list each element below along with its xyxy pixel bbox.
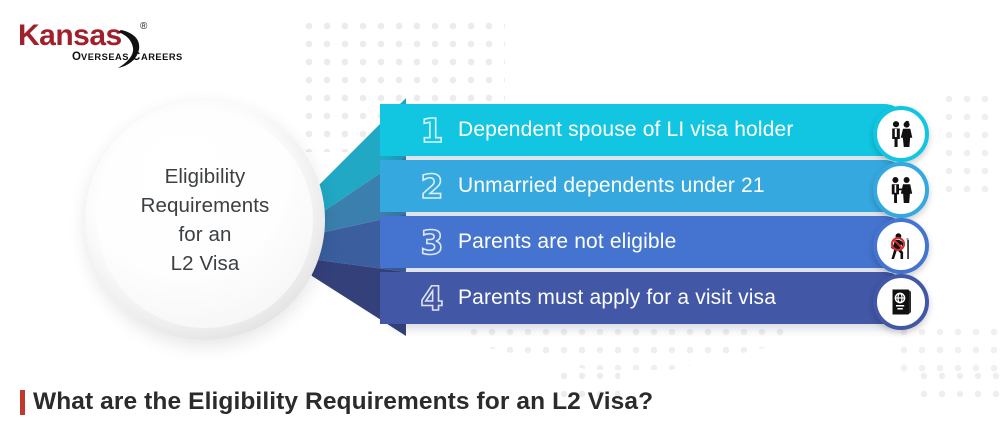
requirement-label-4: Parents must apply for a visit visa: [458, 286, 776, 310]
requirement-number-2: 2: [408, 170, 456, 203]
requirement-row-1[interactable]: 1 Dependent spouse of LI visa holder: [380, 104, 910, 156]
svg-text:C: C: [132, 51, 141, 63]
requirement-label-1: Dependent spouse of LI visa holder: [458, 118, 794, 142]
dot-grid-heading-far-right: [920, 372, 1000, 406]
passport-icon: [886, 287, 916, 317]
requirement-number-3: 3: [408, 226, 456, 259]
hub-title: Eligibility Requirements for an L2 Visa: [85, 100, 325, 340]
couple-formal-icon: [886, 119, 916, 149]
requirement-row-2[interactable]: 2 Unmarried dependents under 21: [380, 160, 910, 212]
requirement-label-2: Unmarried dependents under 21: [458, 174, 765, 198]
dot-grid-right: [945, 95, 1000, 200]
elderly-person-prohibited-icon: [886, 231, 916, 261]
requirement-icon-badge-1[interactable]: [873, 106, 929, 162]
central-hub: Eligibility Requirements for an L2 Visa: [85, 100, 325, 340]
hub-line-1: Eligibility: [165, 162, 246, 191]
logo-wordmark: Kansas: [18, 19, 122, 52]
logo-registered-mark: ®: [140, 21, 148, 32]
heading-accent-bar: [20, 390, 25, 415]
requirement-label-3: Parents are not eligible: [458, 230, 676, 254]
logo-tagline: O: [72, 51, 81, 63]
infographic-canvas: Kansas ® O VERSEAS C AREERS Eligibility …: [0, 0, 1000, 432]
man-woman-pair-icon: [886, 175, 916, 205]
requirement-icon-badge-3[interactable]: [873, 218, 929, 274]
requirement-row-3[interactable]: 3 Parents are not eligible: [380, 216, 910, 268]
hub-line-2: Requirements: [141, 191, 270, 220]
dot-grid-bottom-right: [900, 328, 1000, 383]
requirement-icon-badge-2[interactable]: [873, 162, 929, 218]
heading-title: What are the Eligibility Requirements fo…: [33, 388, 653, 416]
requirement-icon-badge-4[interactable]: [873, 274, 929, 330]
hub-line-3: for an: [178, 220, 231, 249]
kansas-overseas-careers-logo: Kansas ® O VERSEAS C AREERS: [18, 16, 208, 68]
svg-text:VERSEAS: VERSEAS: [81, 52, 129, 62]
requirement-row-4[interactable]: 4 Parents must apply for a visit visa: [380, 272, 910, 324]
svg-text:AREERS: AREERS: [141, 52, 183, 62]
dot-grid-bottom-center: [470, 328, 790, 380]
requirement-number-1: 1: [408, 114, 456, 147]
requirement-number-4: 4: [408, 282, 456, 315]
page-heading: What are the Eligibility Requirements fo…: [20, 388, 653, 416]
hub-line-4: L2 Visa: [171, 249, 240, 278]
